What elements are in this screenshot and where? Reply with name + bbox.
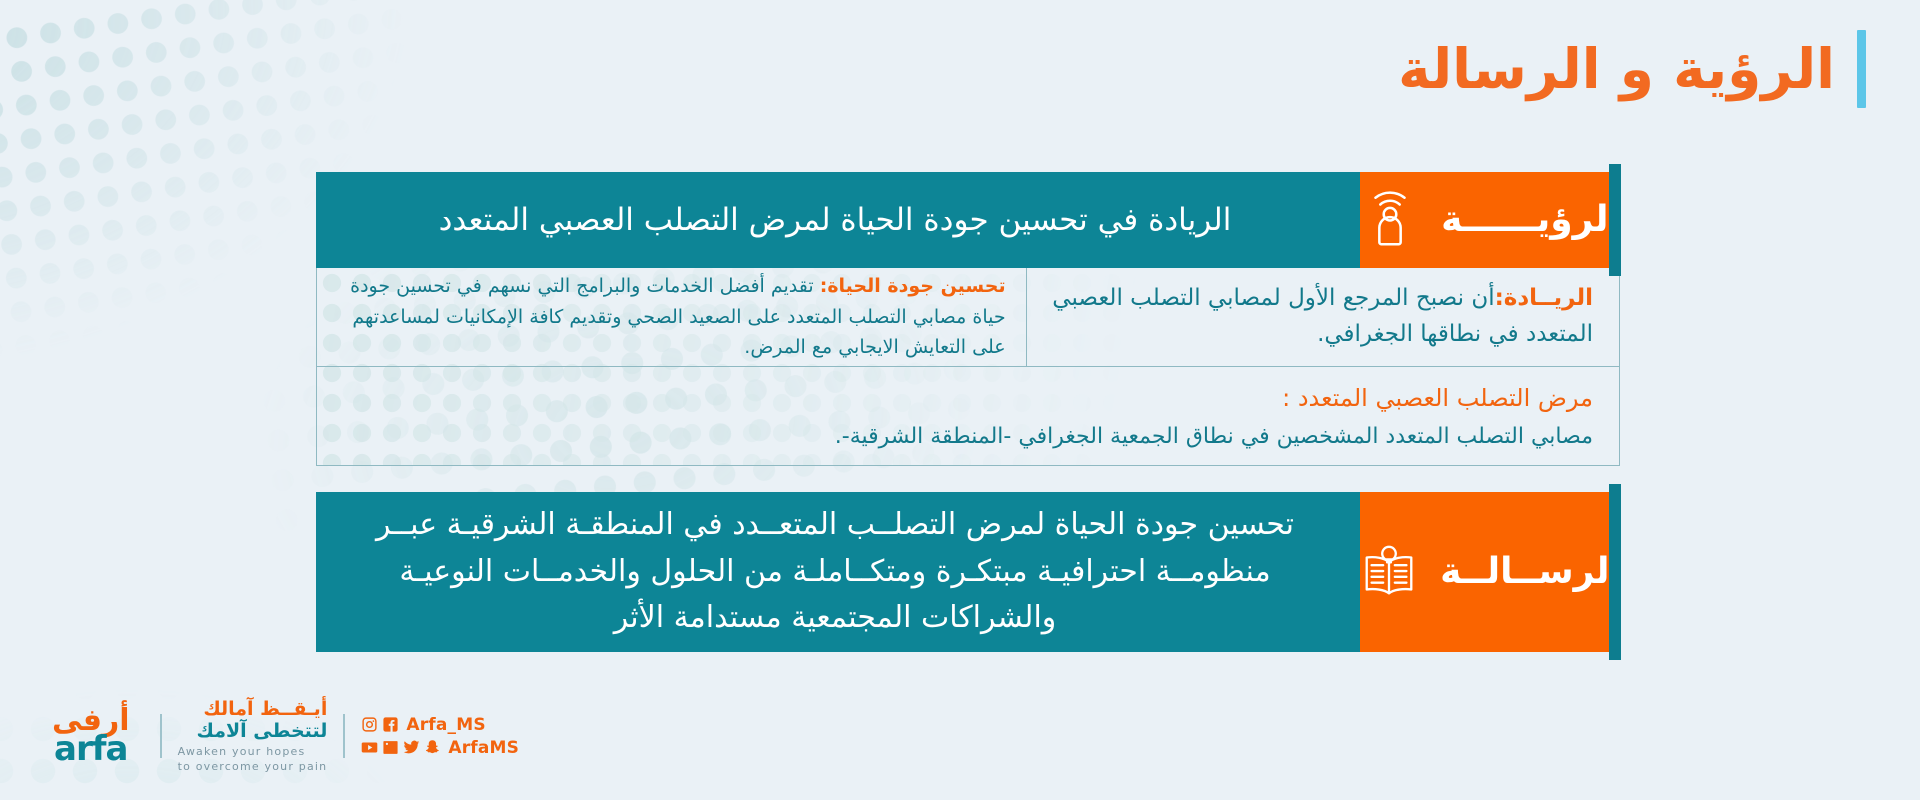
mission-block: الرســالــة تحسين جودة الحياة لمرض التصل… [316, 492, 1620, 652]
social-row-1: Arfa_MS [361, 715, 519, 735]
info-quality-body: تحسين جودة الحياة: تقديم أفضل الخدمات وا… [341, 271, 1006, 362]
vision-label-accent-bar [1609, 164, 1621, 276]
tagline-english-line1: Awaken your hopes [178, 745, 328, 759]
vision-headline-box: الريادة في تحسين جودة الحياة لمرض التصلب… [316, 172, 1360, 268]
mission-label-box: الرســالــة [1360, 492, 1620, 652]
mission-text: تحسين جودة الحياة لمرض التصلــب المتعــد… [344, 502, 1326, 642]
info-panel-bottom-row: مرض التصلب العصبي المتعدد : مصابي التصلب… [317, 367, 1619, 465]
person-broadcast-icon [1359, 189, 1421, 251]
page-title: الرؤية و الرسالة [1398, 42, 1835, 97]
social-row-2: ArfaMS [361, 738, 519, 758]
tagline-arabic-line2: لتتخطى آلامك [178, 721, 328, 743]
vision-label: الرؤيــــــة [1441, 202, 1621, 238]
info-disease-title: مرض التصلب العصبي المتعدد : [339, 383, 1593, 414]
page-title-row: الرؤية و الرسالة [1398, 30, 1866, 108]
arfa-logo-latin: arfa [54, 733, 127, 765]
vision-headline: الريادة في تحسين جودة الحياة لمرض التصلب… [344, 198, 1326, 243]
tagline-english-line2: to overcome your pain [178, 760, 328, 774]
youtube-icon[interactable] [361, 739, 378, 756]
info-column-quality-of-life: تحسين جودة الحياة: تقديم أفضل الخدمات وا… [317, 268, 1027, 366]
info-panel: الريــادة:أن نصبح المرجع الأول لمصابي ال… [316, 268, 1620, 466]
vision-label-box: الرؤيــــــة [1360, 172, 1620, 268]
twitter-icon[interactable] [403, 739, 420, 756]
title-accent-bar [1857, 30, 1866, 108]
footer-divider-1 [160, 714, 162, 758]
info-disease-text: مصابي التصلب المتعدد المشخصين في نطاق ال… [339, 422, 1593, 453]
social-handle-1: Arfa_MS [406, 715, 485, 735]
mission-label-accent-bar [1609, 484, 1621, 660]
footer-divider-2 [343, 714, 345, 758]
footer: أرفى arfa أيـقــظ آمالك لتتخطى آلامك Awa… [52, 699, 519, 774]
open-book-lightbulb-icon [1358, 541, 1420, 603]
slide-root: الرؤية و الرسالة الرؤيــــــة الريادة في… [0, 0, 1920, 800]
info-quality-lead: تحسين جودة الحياة: [820, 275, 1006, 297]
vision-block: الرؤيــــــة الريادة في تحسين جودة الحيا… [316, 172, 1620, 268]
mission-label: الرســالــة [1440, 554, 1622, 590]
tagline-arabic-line1: أيـقــظ آمالك [178, 699, 328, 721]
linkedin-icon[interactable] [382, 739, 399, 756]
info-leadership-lead: الريــادة: [1495, 285, 1593, 311]
social-handle-2: ArfaMS [448, 738, 519, 758]
facebook-icon[interactable] [382, 716, 399, 733]
snapchat-icon[interactable] [424, 739, 441, 756]
footer-tagline: أيـقــظ آمالك لتتخطى آلامك Awaken your h… [178, 699, 328, 774]
mission-text-box: تحسين جودة الحياة لمرض التصلــب المتعــد… [316, 492, 1360, 652]
arfa-logo: أرفى arfa [52, 707, 130, 766]
social-links: Arfa_MS ArfaMS [361, 715, 519, 758]
instagram-icon[interactable] [361, 716, 378, 733]
info-panel-top-row: الريــادة:أن نصبح المرجع الأول لمصابي ال… [317, 268, 1619, 367]
tagline-english: Awaken your hopes to overcome your pain [178, 745, 328, 774]
info-leadership-body: الريــادة:أن نصبح المرجع الأول لمصابي ال… [1049, 281, 1593, 352]
info-column-leadership: الريــادة:أن نصبح المرجع الأول لمصابي ال… [1027, 268, 1619, 366]
